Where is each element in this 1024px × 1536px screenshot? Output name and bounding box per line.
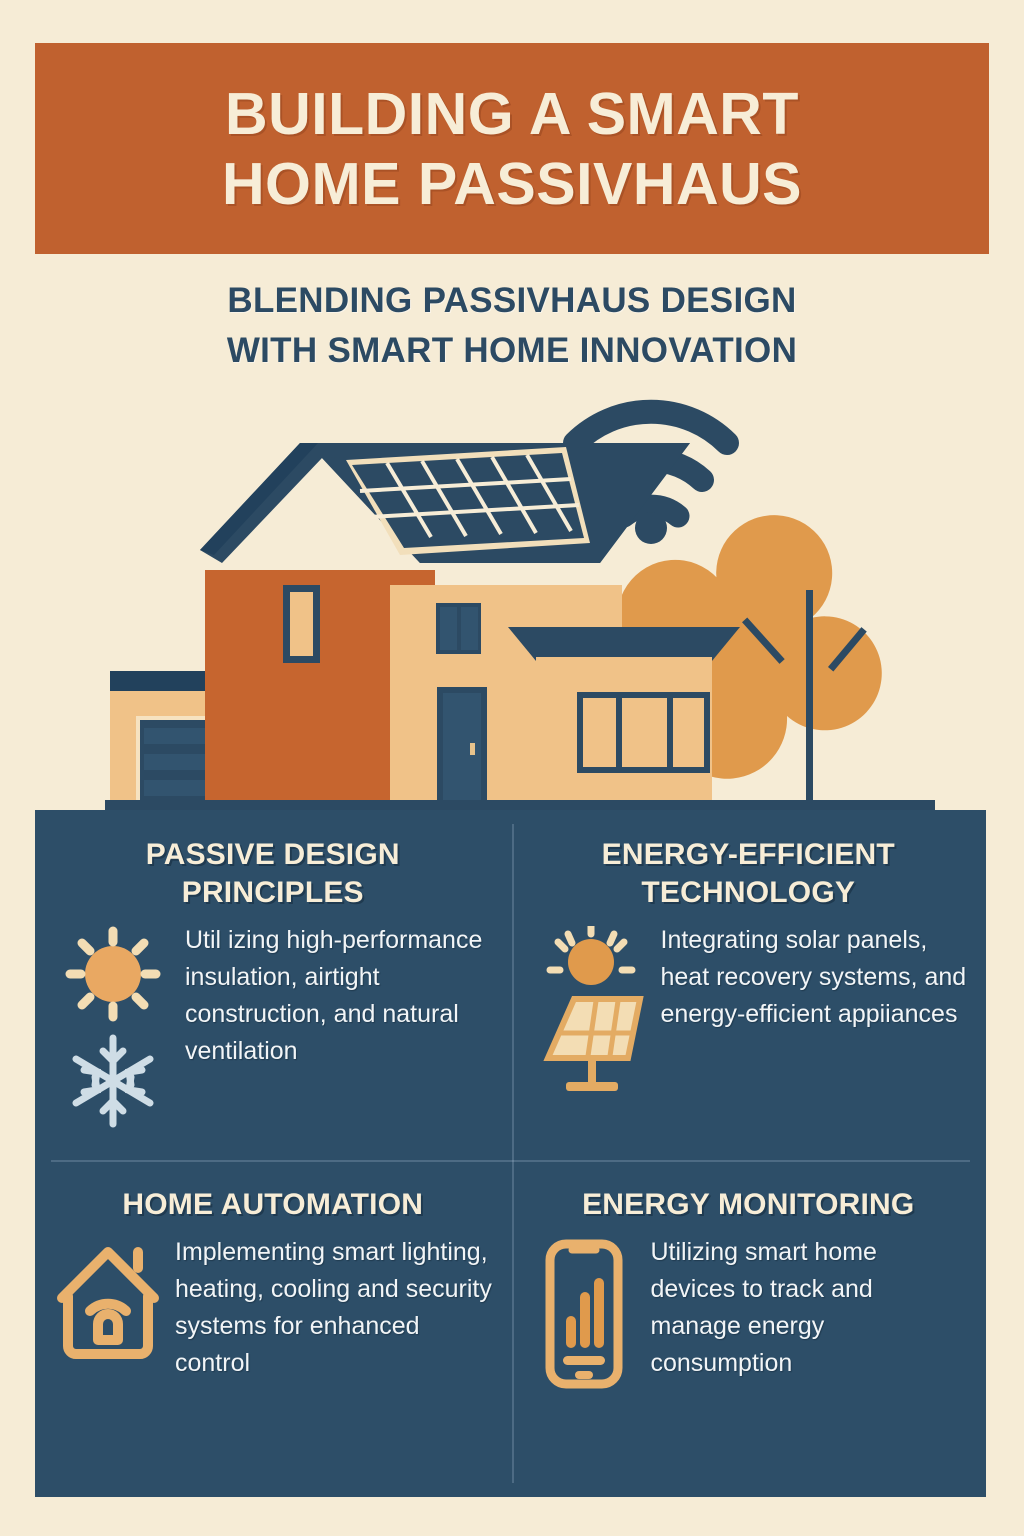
section-title: ENERGY MONITORING	[529, 1186, 969, 1224]
hero-illustration	[0, 395, 1024, 815]
title-line-1: BUILDING A SMART	[225, 79, 799, 149]
subtitle-line-2: WITH SMART HOME INNOVATION	[0, 326, 1024, 376]
icon-group-solar	[529, 922, 649, 1106]
icon-group-passive	[53, 922, 173, 1136]
grid-divider-horizontal	[51, 1160, 970, 1162]
section-description: Utilizing smart home devices to track an…	[651, 1234, 969, 1382]
sun-icon	[70, 931, 156, 1017]
snowflake-icon	[76, 1038, 150, 1124]
solar-roof-panel	[346, 447, 590, 555]
section-energy-efficient-technology: ENERGY-EFFICIENT TECHNOLOGY	[511, 810, 987, 1160]
section-description: Util izing high-performance insulation, …	[185, 922, 493, 1070]
section-title: ENERGY-EFFICIENT TECHNOLOGY	[529, 836, 969, 912]
icon-group-energy-monitoring	[529, 1234, 639, 1398]
info-panel: PASSIVE DESIGN PRINCIPLES	[35, 810, 986, 1497]
subtitle-block: BLENDING PASSIVHAUS DESIGN WITH SMART HO…	[0, 276, 1024, 376]
section-passive-design-principles: PASSIVE DESIGN PRINCIPLES	[35, 810, 511, 1160]
grid-divider-vertical	[512, 824, 514, 1483]
smart-home-icon	[62, 1252, 154, 1354]
section-description: Implementing smart lighting, heating, co…	[175, 1234, 493, 1382]
side-extension	[508, 627, 740, 806]
section-description: Integrating solar panels, heat recovery …	[661, 922, 969, 1033]
section-title: HOME AUTOMATION	[53, 1186, 493, 1224]
icon-group-home-automation	[53, 1234, 163, 1378]
section-home-automation: HOME AUTOMATION Implementing smart light…	[35, 1160, 511, 1497]
solar-panel-icon	[548, 926, 640, 1091]
title-line-2: HOME PASSIVHAUS	[222, 149, 802, 219]
phone-chart-icon	[550, 1244, 618, 1384]
title-banner: BUILDING A SMART HOME PASSIVHAUS	[35, 43, 989, 254]
section-energy-monitoring: ENERGY MONITORING	[511, 1160, 987, 1497]
section-title: PASSIVE DESIGN PRINCIPLES	[53, 836, 493, 912]
subtitle-line-1: BLENDING PASSIVHAUS DESIGN	[0, 276, 1024, 326]
